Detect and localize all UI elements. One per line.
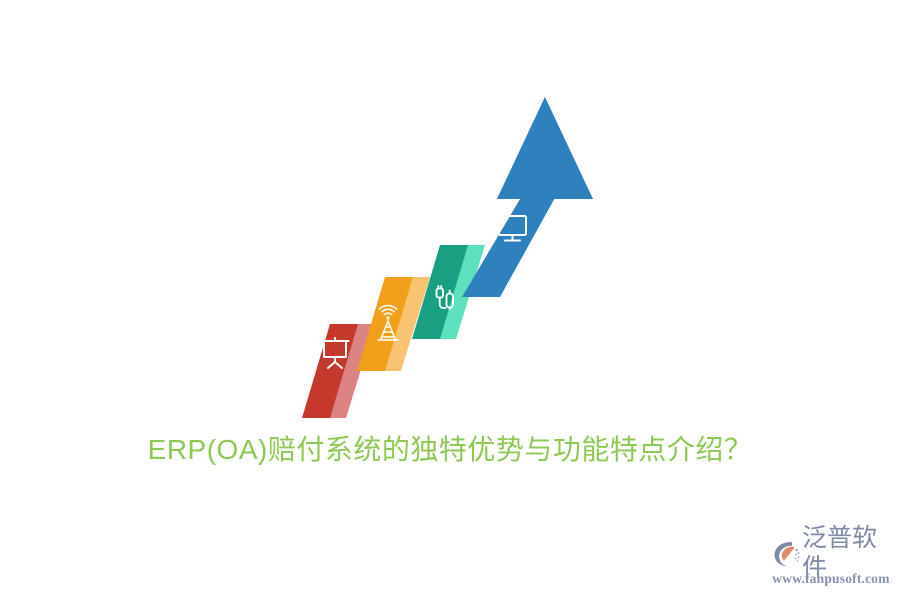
brand-url: www.fanpusoft.com (770, 570, 892, 587)
fanpu-logo-sparkles (795, 549, 800, 562)
fanpu-logo-icon (770, 538, 800, 568)
logo-row: 泛普软件 (770, 536, 892, 570)
arrow-blue-head (497, 97, 593, 199)
brand-logo[interactable]: 泛普软件 www.fanpusoft.com (770, 536, 892, 592)
fanpu-logo-crescent (782, 547, 795, 561)
ascending-growth-arrow-graphic (0, 0, 900, 600)
page-title: ERP(OA)赔付系统的独特优势与功能特点介绍？ (0, 428, 900, 472)
arrow-blue (462, 97, 593, 297)
page-canvas: ERP(OA)赔付系统的独特优势与功能特点介绍？ 泛普软件 www.fanpus… (0, 0, 900, 600)
